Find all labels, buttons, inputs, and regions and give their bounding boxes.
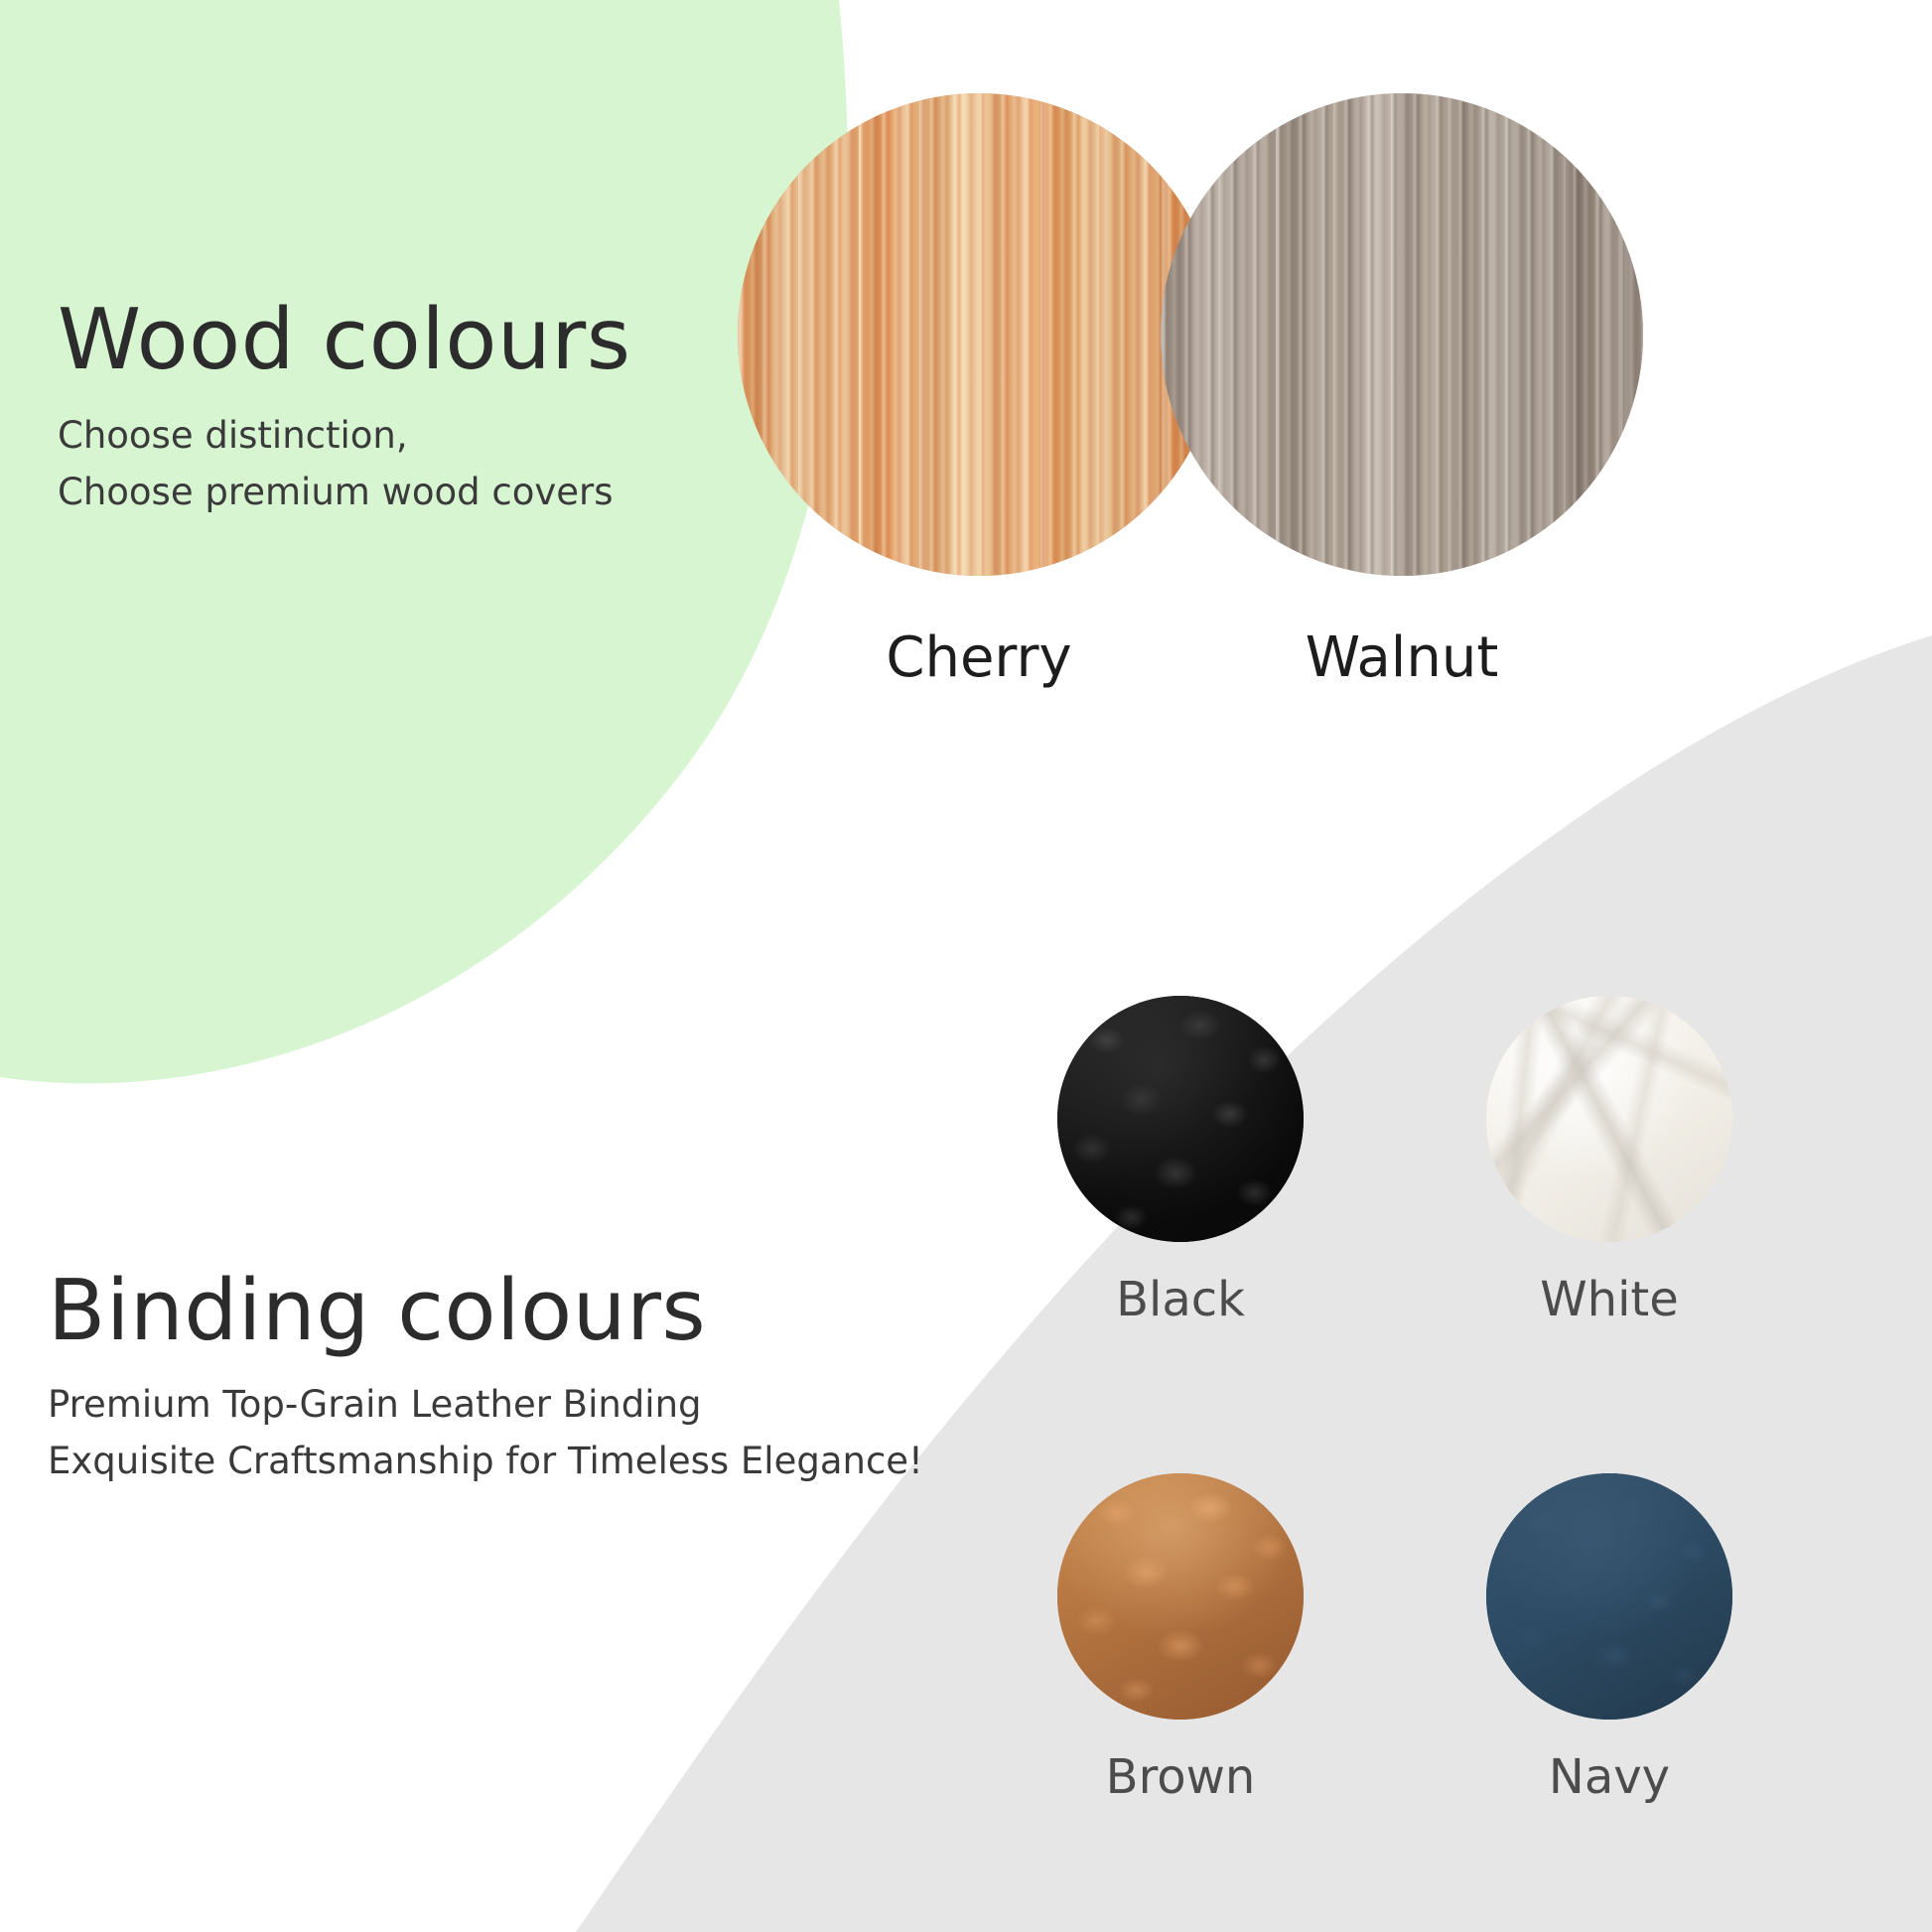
swatch-disc-cherry[interactable]: [738, 93, 1220, 576]
swatch-label-white: White: [1540, 1276, 1679, 1323]
swatch-label-cherry: Cherry: [886, 630, 1071, 686]
swatch-black[interactable]: Black: [1057, 996, 1304, 1323]
binding-section-text: Binding colours Premium Top-Grain Leathe…: [48, 1269, 923, 1487]
binding-section-subline-2: Exquisite Craftsmanship for Timeless Ele…: [48, 1436, 923, 1488]
swatch-disc-navy[interactable]: [1486, 1473, 1732, 1720]
leather-pebbled-black-texture: [1057, 996, 1304, 1242]
binding-section-subline-1: Premium Top-Grain Leather Binding: [48, 1379, 923, 1432]
wood-grain-cherry-texture: [738, 93, 1220, 576]
leather-pebbled-brown-texture: [1057, 1473, 1304, 1720]
wood-section-subline-1: Choose distinction,: [58, 410, 631, 463]
swatch-navy[interactable]: Navy: [1486, 1473, 1732, 1801]
swatch-disc-black[interactable]: [1057, 996, 1304, 1242]
swatch-disc-brown[interactable]: [1057, 1473, 1304, 1720]
swatch-cherry[interactable]: Cherry: [738, 93, 1220, 686]
binding-section-heading: Binding colours: [48, 1269, 923, 1353]
swatch-disc-walnut[interactable]: [1161, 93, 1643, 576]
swatch-white[interactable]: White: [1486, 996, 1732, 1323]
swatch-label-black: Black: [1116, 1276, 1245, 1323]
swatch-disc-white[interactable]: [1486, 996, 1732, 1242]
leather-creased-white-texture: [1486, 996, 1732, 1242]
wood-section-heading: Wood colours: [58, 298, 631, 382]
leather-pebbled-navy-texture: [1486, 1473, 1732, 1720]
wood-grain-walnut-texture: [1161, 93, 1643, 576]
wood-section-subline-2: Choose premium wood covers: [58, 467, 631, 519]
wood-section-text: Wood colours Choose distinction, Choose …: [58, 298, 631, 518]
swatch-brown[interactable]: Brown: [1057, 1473, 1304, 1801]
product-colour-options-poster: Wood colours Choose distinction, Choose …: [0, 0, 1932, 1932]
swatch-label-brown: Brown: [1106, 1753, 1256, 1801]
swatch-label-navy: Navy: [1549, 1753, 1670, 1801]
swatch-label-walnut: Walnut: [1306, 630, 1499, 686]
swatch-walnut[interactable]: Walnut: [1161, 93, 1643, 686]
